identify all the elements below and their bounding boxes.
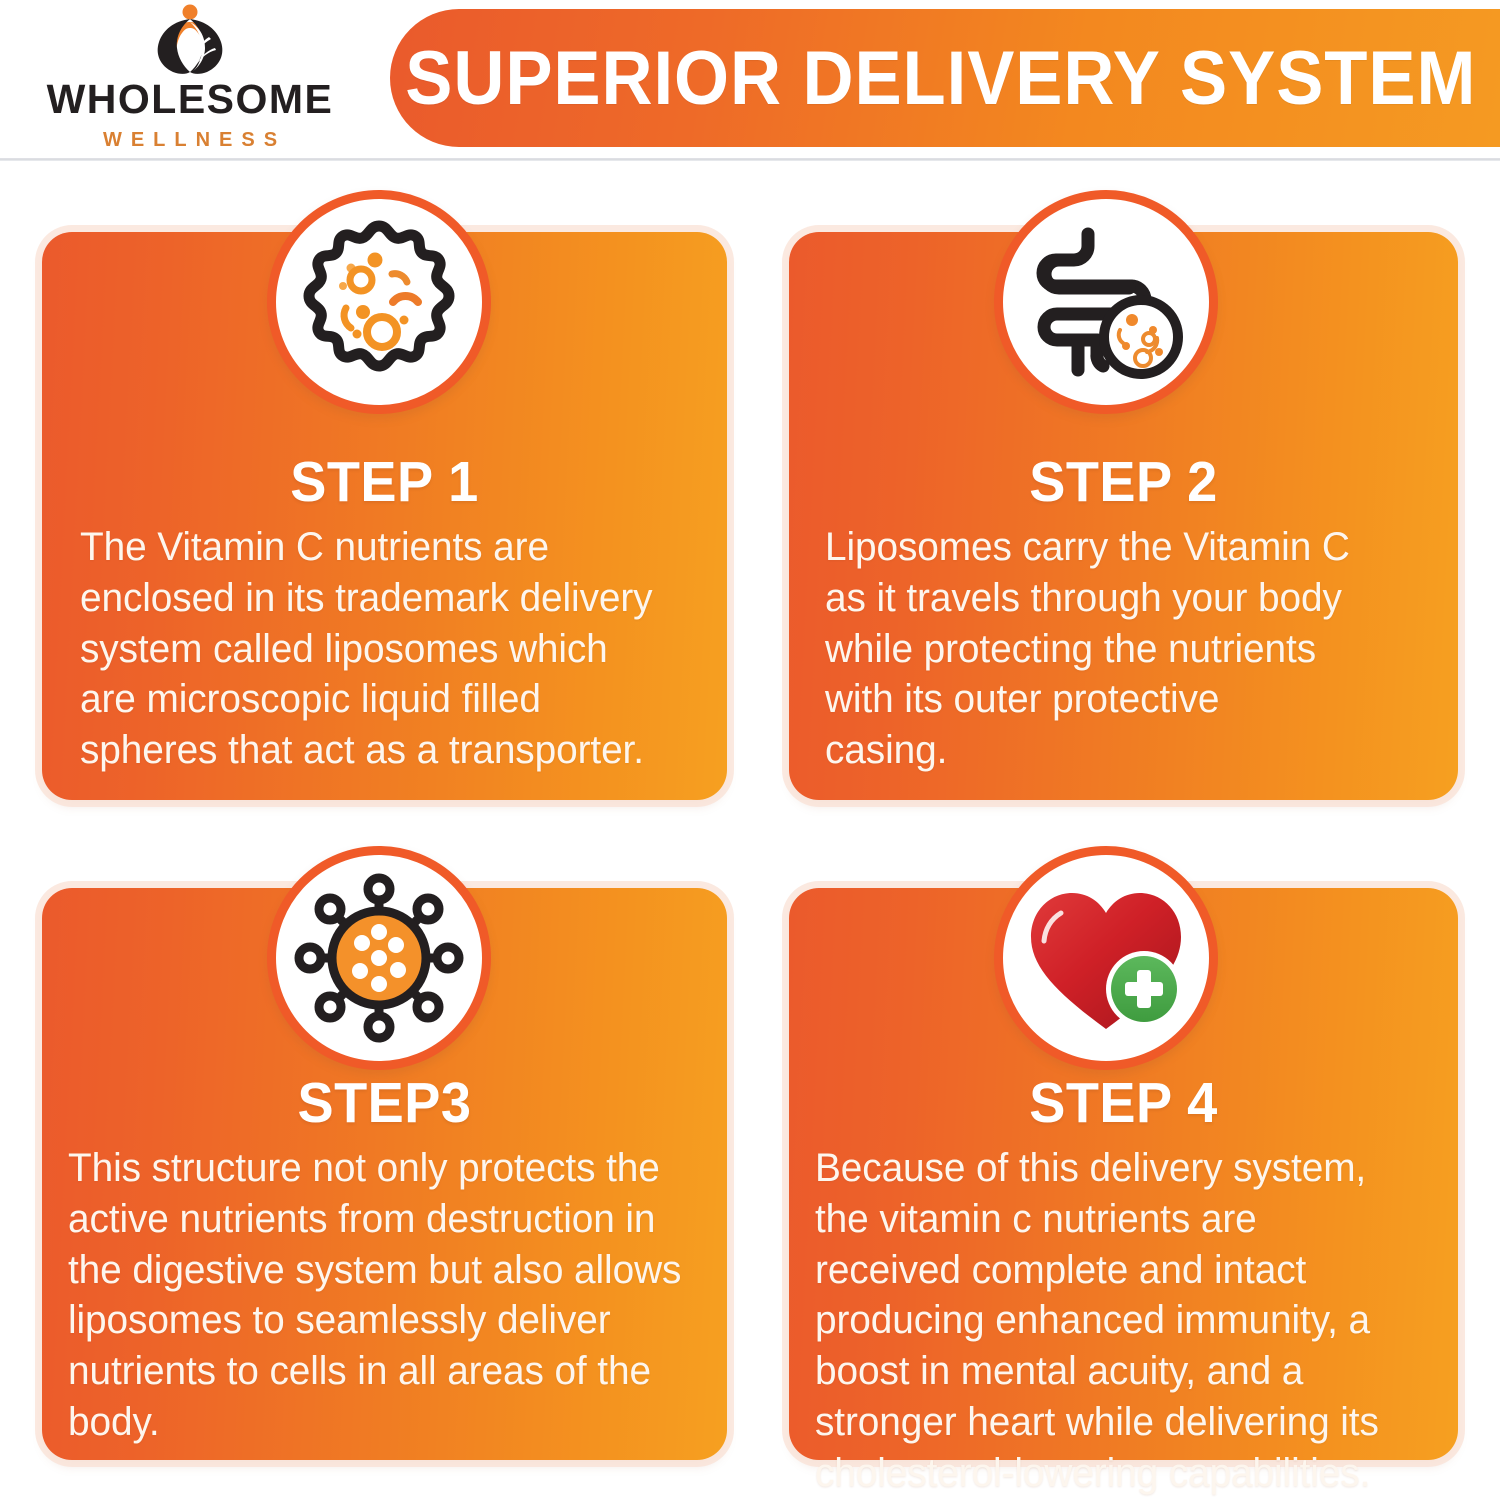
step-card-2: STEP 2 Liposomes carry the Vitamin C as … [789, 232, 1458, 800]
step-title: STEP 2 [830, 454, 1416, 511]
brand-name-primary: WHOLESOME [47, 79, 334, 120]
liposome-cell-icon [267, 190, 491, 414]
step-body: The Vitamin C nutrients are enclosed in … [80, 522, 682, 776]
step-card-3: STEP3 This structure not only protects t… [42, 888, 727, 1460]
step-title: STEP3 [84, 1075, 685, 1132]
brand-name-secondary: WELLNESS [94, 130, 286, 150]
step-card-4: STEP 4 Because of this delivery system, … [789, 888, 1458, 1460]
leaf-person-logo-icon [129, 4, 251, 78]
step-card-1: STEP 1 The Vitamin C nutrients are enclo… [42, 232, 727, 800]
step-body: This structure not only protects the act… [68, 1143, 682, 1448]
brand-logo: WHOLESOME WELLNESS [0, 0, 380, 158]
step-title: STEP 1 [84, 454, 685, 511]
step-body: Because of this delivery system, the vit… [815, 1143, 1413, 1499]
page-title: SUPERIOR DELIVERY SYSTEM [406, 35, 1477, 122]
step-title: STEP 4 [830, 1075, 1416, 1132]
steps-grid: STEP 1 The Vitamin C nutrients are enclo… [0, 161, 1500, 1475]
heart-plus-health-icon [994, 846, 1218, 1070]
cell-receptor-molecule-icon [267, 846, 491, 1070]
page-header: WHOLESOME WELLNESS SUPERIOR DELIVERY SYS… [0, 0, 1500, 161]
header-banner: SUPERIOR DELIVERY SYSTEM [390, 9, 1500, 147]
step-body: Liposomes carry the Vitamin C as it trav… [825, 522, 1414, 776]
intestines-digestive-icon [994, 190, 1218, 414]
